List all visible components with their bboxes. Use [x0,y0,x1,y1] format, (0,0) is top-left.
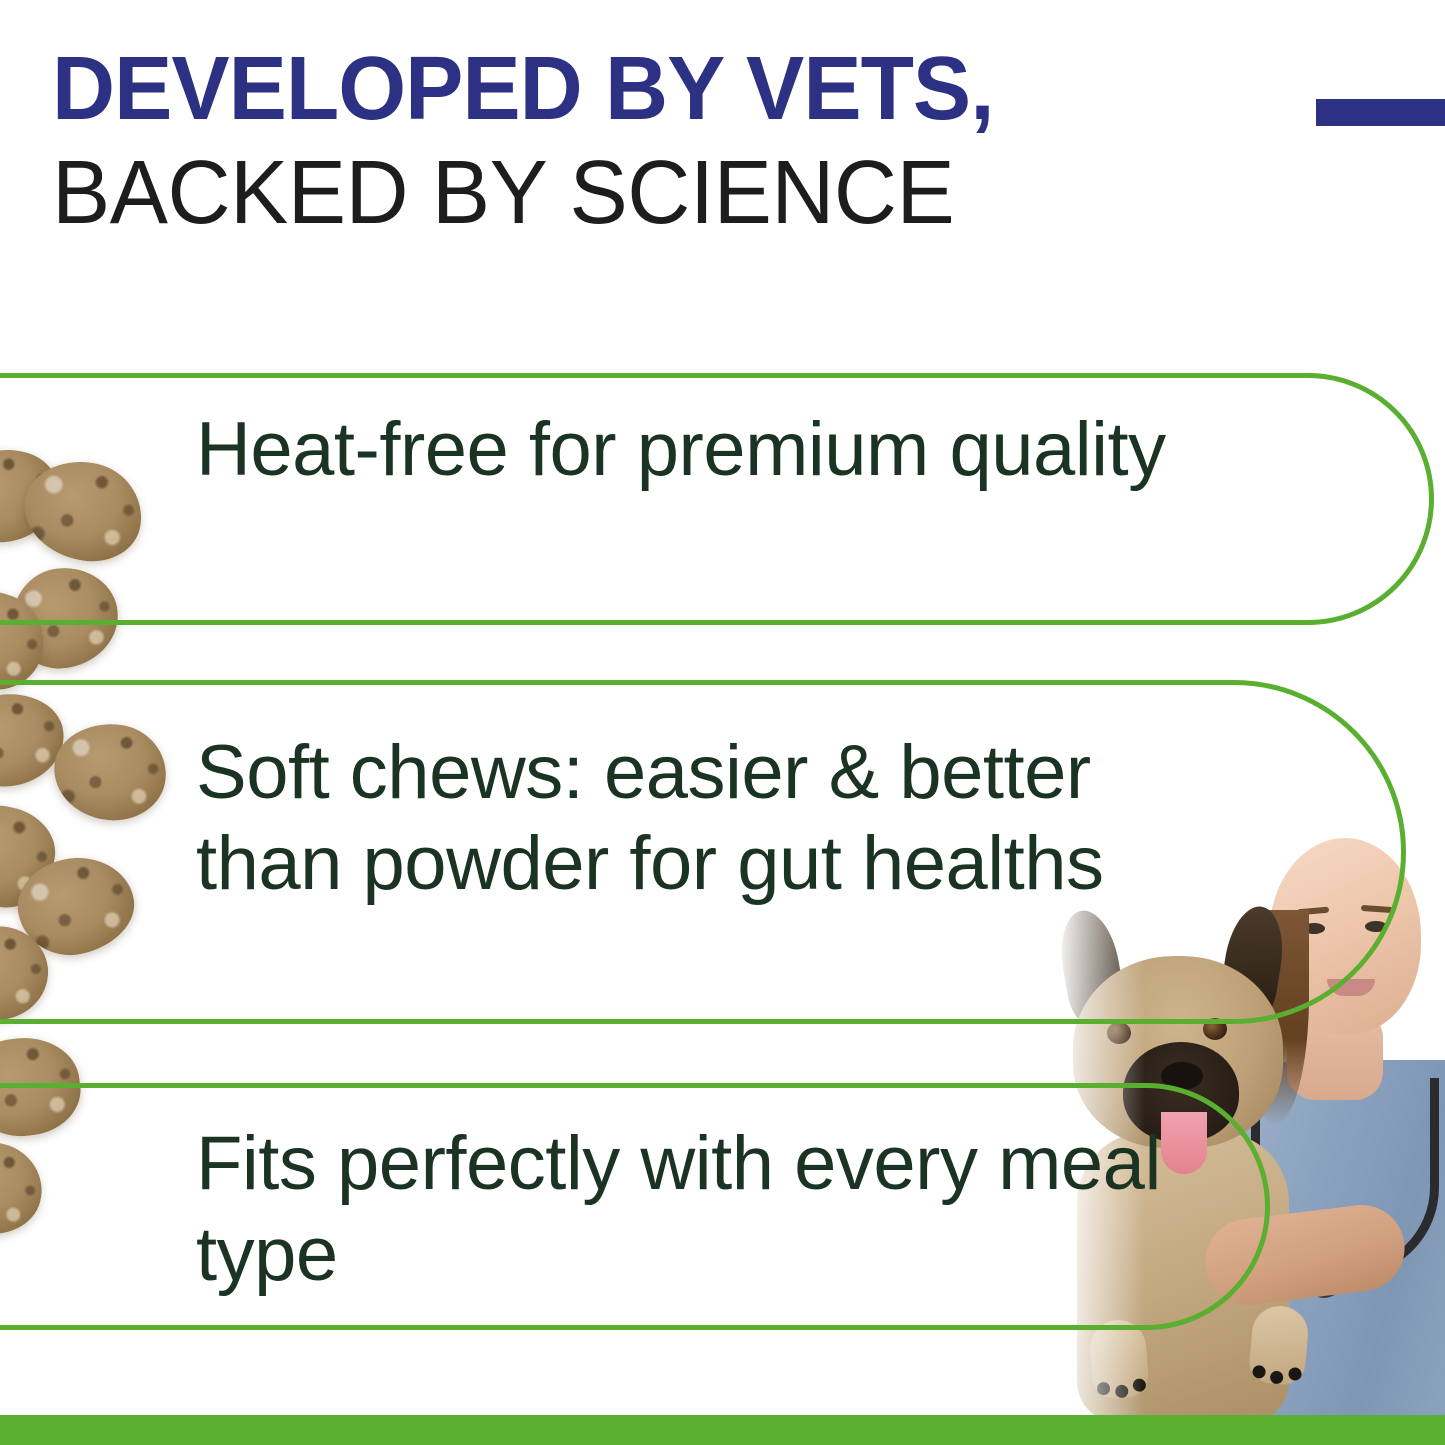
promo-banner: DEVELOPED BY VETS, BACKED BY SCIENCE [0,0,1445,1445]
dog-eye [1107,1022,1131,1044]
headline-line-1: DEVELOPED BY VETS, [52,44,1352,134]
dog-paw [1248,1304,1311,1387]
dog-claw [1132,1378,1146,1392]
bottom-green-bar [0,1415,1445,1445]
feature-label-3: Fits perfectly with every meal type [196,1118,1206,1300]
dog-claw [1097,1382,1111,1396]
vet-neck [1287,1010,1383,1100]
dog-claw [1288,1367,1302,1381]
feature-label-2: Soft chews: easier & better than powder … [196,727,1206,909]
feature-label-1: Heat-free for premium quality [196,404,1206,495]
dog-claw [1252,1365,1266,1379]
stethoscope-bell [1305,1260,1343,1298]
page-title: DEVELOPED BY VETS, BACKED BY SCIENCE [52,44,1392,238]
headline-line-2: BACKED BY SCIENCE [52,148,1352,238]
dog-claw [1270,1370,1284,1384]
dog-paw [1088,1318,1149,1400]
navy-dash-accent [1316,99,1445,126]
dog-claw [1115,1384,1129,1398]
stethoscope-icon [1251,1078,1439,1277]
